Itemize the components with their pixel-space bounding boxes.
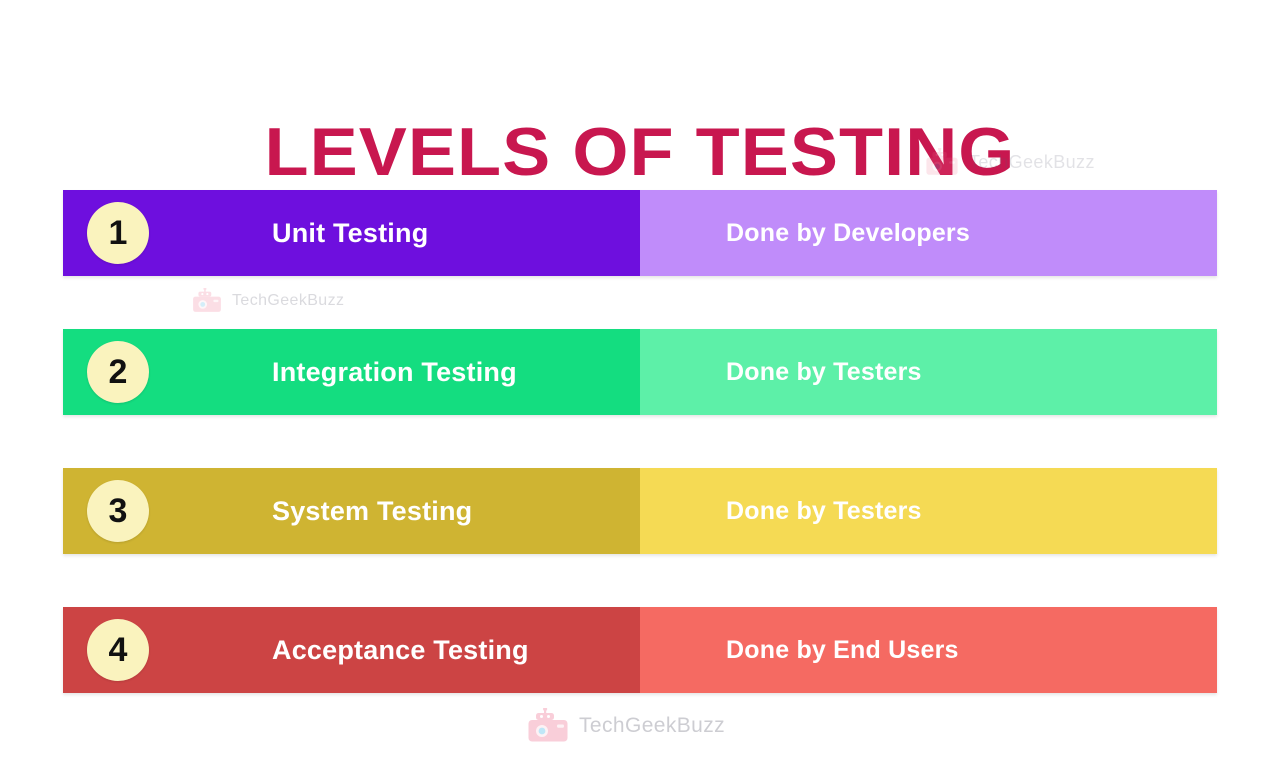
level-number-badge: 3 bbox=[87, 480, 149, 542]
level-doneby-label: Done by Developers bbox=[726, 219, 970, 248]
page-title: LEVELS OF TESTING bbox=[0, 112, 1280, 192]
level-row: 4 Acceptance Testing Done by End Users bbox=[63, 607, 1217, 693]
level-name-label: Acceptance Testing bbox=[272, 635, 529, 666]
level-row-right: Done by Testers bbox=[640, 329, 1217, 415]
level-row-right: Done by Developers bbox=[640, 190, 1217, 276]
level-number-badge: 1 bbox=[87, 202, 149, 264]
infographic-canvas: LEVELS OF TESTING 1 Unit Testing Done by… bbox=[0, 0, 1280, 769]
level-row-left: 4 Acceptance Testing bbox=[63, 607, 640, 693]
level-row-left: 3 System Testing bbox=[63, 468, 640, 554]
level-number-badge: 2 bbox=[87, 341, 149, 403]
level-row-left: 2 Integration Testing bbox=[63, 329, 640, 415]
level-row-right: Done by Testers bbox=[640, 468, 1217, 554]
level-number-badge: 4 bbox=[87, 619, 149, 681]
levels-list: 1 Unit Testing Done by Developers 2 Inte… bbox=[63, 190, 1217, 693]
camera-robot-icon bbox=[527, 708, 569, 743]
level-name-label: Unit Testing bbox=[272, 218, 428, 249]
level-row: 2 Integration Testing Done by Testers bbox=[63, 329, 1217, 415]
level-doneby-label: Done by End Users bbox=[726, 636, 959, 665]
level-row: 1 Unit Testing Done by Developers bbox=[63, 190, 1217, 276]
level-doneby-label: Done by Testers bbox=[726, 497, 922, 526]
level-row-right: Done by End Users bbox=[640, 607, 1217, 693]
level-row-left: 1 Unit Testing bbox=[63, 190, 640, 276]
level-doneby-label: Done by Testers bbox=[726, 358, 922, 387]
watermark: TechGeekBuzz bbox=[527, 708, 725, 743]
level-name-label: Integration Testing bbox=[272, 357, 517, 388]
level-name-label: System Testing bbox=[272, 496, 472, 527]
level-row: 3 System Testing Done by Testers bbox=[63, 468, 1217, 554]
watermark-text: TechGeekBuzz bbox=[579, 714, 725, 738]
